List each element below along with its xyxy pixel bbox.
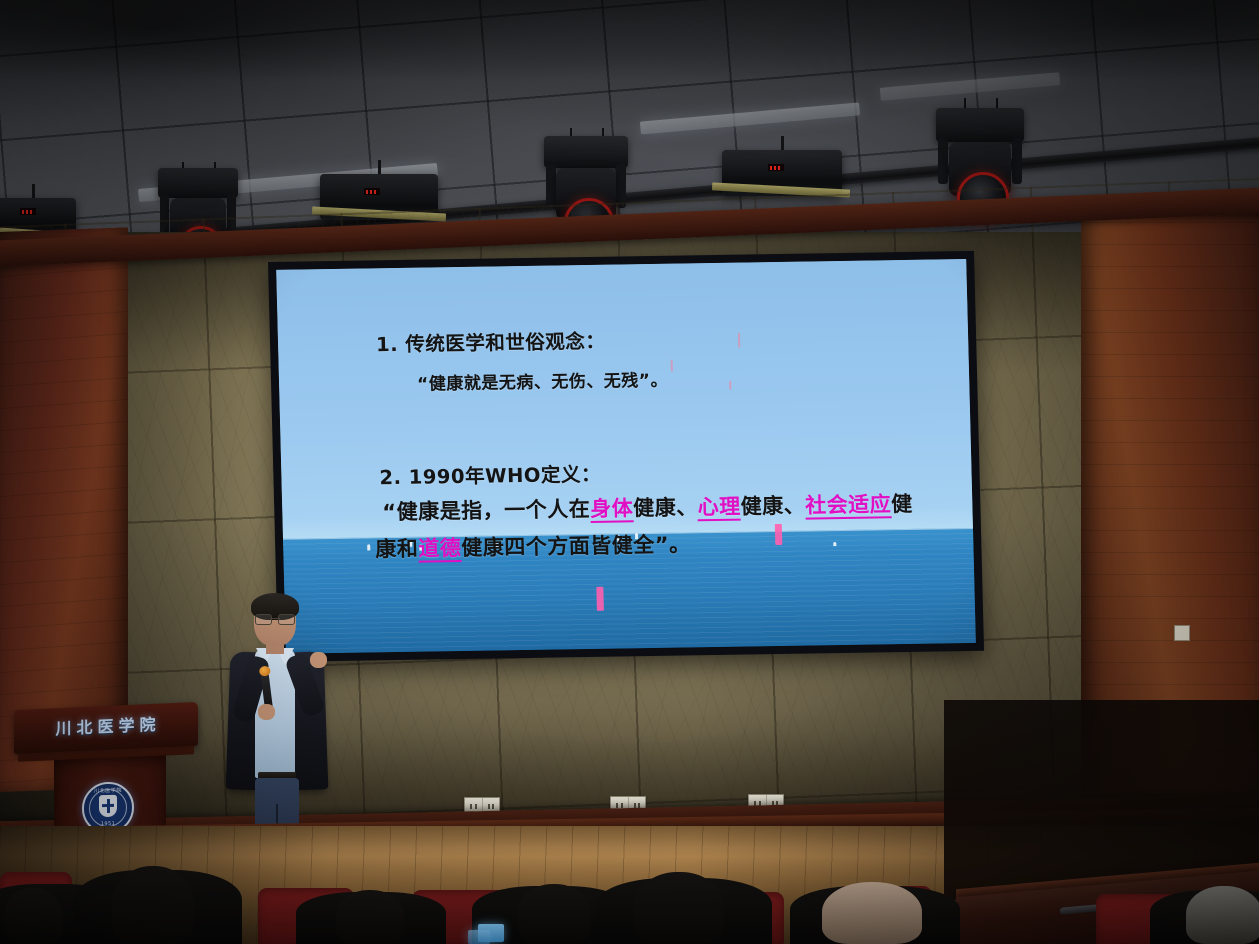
highlight-term-body: 身体 xyxy=(590,496,634,523)
quote-text-pre: “健康是指，一个人在 xyxy=(382,497,590,524)
quote-text-b-pre: 康和 xyxy=(375,537,419,562)
highlight-term-social: 社会适应 xyxy=(805,492,892,519)
slide-text-block: 1. 传统医学和世俗观念： “健康就是无病、无伤、无残”。 2. 1990年WH… xyxy=(276,259,976,654)
emblem-top-text: 川北医学院 xyxy=(84,786,132,794)
slide-quote-line-b: 康和道德健康四个方面皆健全”。 xyxy=(375,524,940,563)
quote-text-tail-a: 健 xyxy=(891,492,913,516)
highlight-term-mind: 心理 xyxy=(697,495,741,522)
slide-quote-line-a: “健康是指，一个人在身体健康、心理健康、社会适应健 xyxy=(382,487,939,526)
hand-left xyxy=(258,704,275,720)
quote-text-b-post: 健康四个方面皆健全”。 xyxy=(461,532,691,560)
hand-right xyxy=(310,652,327,668)
quote-text-mid-2: 健康、 xyxy=(740,494,805,519)
slide-line-1: 1. 传统医学和世俗观念： xyxy=(376,320,935,358)
lecture-hall-photo: 1. 传统医学和世俗观念： “健康就是无病、无伤、无残”。 2. 1990年WH… xyxy=(0,0,1259,944)
highlight-term-morality: 道德 xyxy=(418,536,462,563)
projection-screen[interactable]: 1. 传统医学和世俗观念： “健康就是无病、无伤、无残”。 2. 1990年WH… xyxy=(268,251,984,662)
wall-plate xyxy=(1174,625,1190,641)
slide-line-3: 2. 1990年WHO定义： xyxy=(379,453,938,491)
screen-surface: 1. 传统医学和世俗观念： “健康就是无病、无伤、无残”。 2. 1990年WH… xyxy=(276,259,976,654)
eyeglasses-icon xyxy=(255,614,295,623)
quote-text-mid-1: 健康、 xyxy=(633,495,698,520)
slide-line-2: “健康就是无病、无伤、无残”。 xyxy=(417,362,936,395)
emblem-cross-bar-icon xyxy=(102,804,114,807)
